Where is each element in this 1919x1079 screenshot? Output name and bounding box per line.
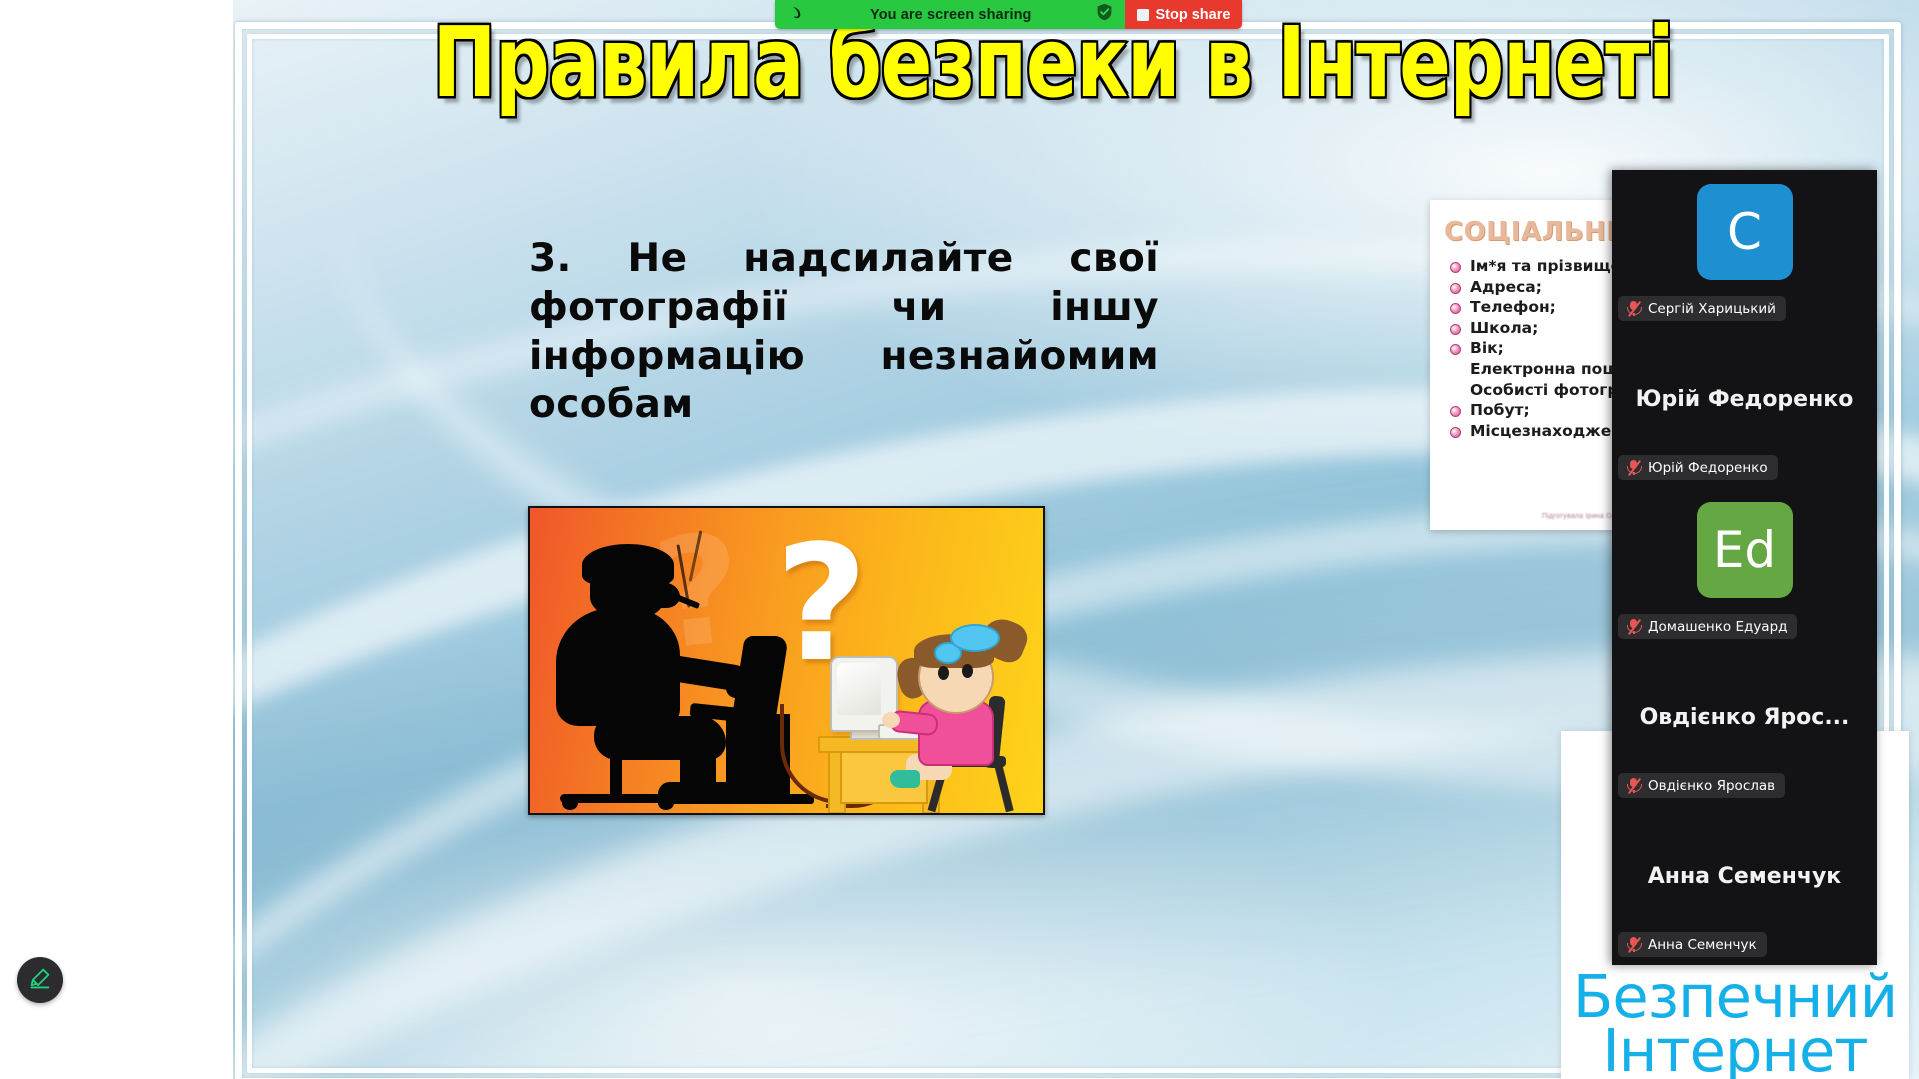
dark-desk-foot <box>702 794 814 804</box>
pencil-annotate-icon <box>28 966 52 995</box>
participant-display-name: Овдієнко Ярос... <box>1612 705 1877 730</box>
share-status-label: You are screen sharing <box>870 7 1032 23</box>
participant-name: Овдієнко Ярослав <box>1648 778 1775 794</box>
participant-name: Сергій Харицький <box>1648 301 1776 317</box>
participant-name-badge: Сергій Харицький <box>1618 296 1786 321</box>
avatar: C <box>1697 184 1793 280</box>
screen-share-bar: You are screen sharing Stop share <box>775 0 1242 29</box>
mic-muted-icon <box>1626 777 1641 794</box>
shield-check-icon <box>1096 3 1113 26</box>
stop-square-icon <box>1137 9 1149 21</box>
mic-muted-icon <box>1626 936 1641 953</box>
girl-eye <box>962 664 973 678</box>
participant-name-badge: Юрій Федоренко <box>1618 455 1778 480</box>
chair-foot <box>562 796 578 810</box>
girl-hand <box>882 712 900 728</box>
logo-text-line2: Інтернет <box>1569 1021 1901 1079</box>
participant-name-badge: Домашенко Едуард <box>1618 614 1797 639</box>
mic-muted-icon <box>1626 618 1641 635</box>
cartoon-illustration: ? ? <box>528 506 1045 815</box>
participant-name: Анна Семенчук <box>1648 937 1757 953</box>
stop-share-button[interactable]: Stop share <box>1125 0 1243 29</box>
participant-tile[interactable]: Юрій Федоренко Юрій Федоренко <box>1612 329 1877 488</box>
mic-muted-icon <box>1626 300 1641 317</box>
participant-tile[interactable]: C Сергій Харицький <box>1612 170 1877 329</box>
share-status-group: You are screen sharing <box>775 0 1125 29</box>
participant-name-badge: Анна Семенчук <box>1618 932 1767 957</box>
slide-body-text: 3. Не надсилайте свої фотографії чи іншу… <box>529 235 1159 430</box>
monitor-screen <box>837 663 881 715</box>
zoom-share-icon <box>789 4 806 26</box>
participant-tile[interactable]: Анна Семенчук Анна Семенчук <box>1612 806 1877 965</box>
girl-shoe <box>890 770 920 788</box>
participant-name: Домашенко Едуард <box>1648 619 1787 635</box>
mic-muted-icon <box>1626 459 1641 476</box>
participant-name-badge: Овдієнко Ярослав <box>1618 773 1785 798</box>
stop-share-label: Stop share <box>1156 7 1231 23</box>
girl-chair-leg <box>994 764 1013 813</box>
participant-display-name: Анна Семенчук <box>1612 864 1877 889</box>
participant-name: Юрій Федоренко <box>1648 460 1768 476</box>
participant-display-name: Юрій Федоренко <box>1612 387 1877 412</box>
participants-video-panel[interactable]: C Сергій Харицький Юрій Федоренко Юрій Ф… <box>1612 170 1877 965</box>
avatar: Ed <box>1697 502 1793 598</box>
annotate-button[interactable] <box>17 957 63 1003</box>
participant-tile[interactable]: Ed Домашенко Едуард <box>1612 488 1877 647</box>
girl-eye <box>938 666 949 680</box>
participant-tile[interactable]: Овдієнко Ярос... Овдієнко Ярослав <box>1612 647 1877 806</box>
girl-bow <box>950 624 1000 652</box>
